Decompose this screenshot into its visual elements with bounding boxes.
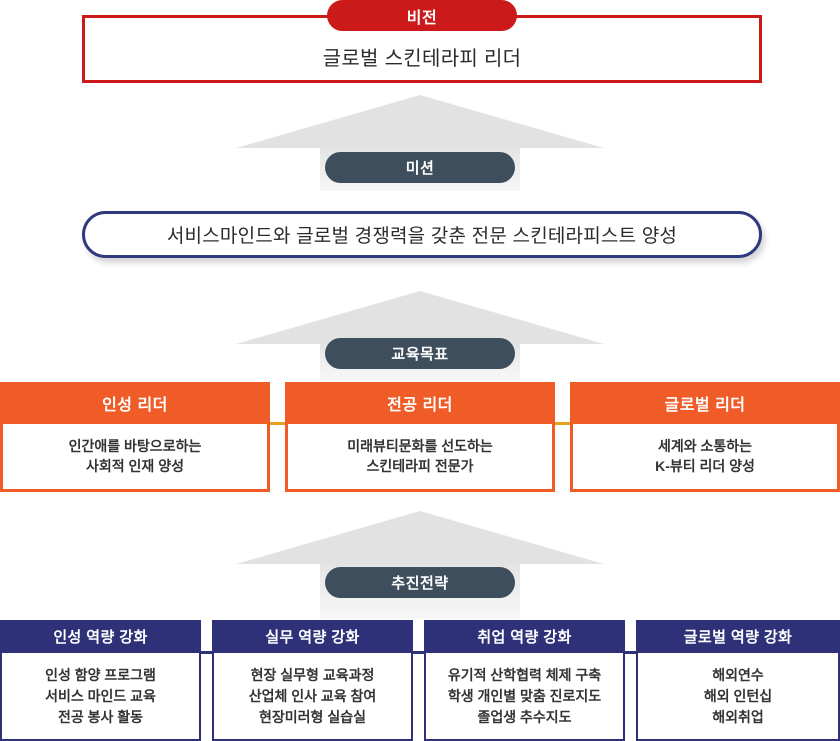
mission-badge: 미션 bbox=[325, 152, 515, 183]
goal-connector-1 bbox=[270, 382, 285, 492]
goal-card-2-line-1: 미래뷰티문화를 선도하는 bbox=[347, 437, 493, 457]
strategy-card-4: 글로벌 역량 강화 해외연수 해외 인턴십 해외취업 bbox=[636, 620, 840, 741]
goal-connector-2 bbox=[555, 382, 570, 492]
strategy-card-1: 인성 역량 강화 인성 함양 프로그램 서비스 마인드 교육 전공 봉사 활동 bbox=[0, 620, 201, 741]
goal-card-1: 인성 리더 인간애를 바탕으로하는 사회적 인재 양성 bbox=[0, 382, 270, 492]
strategy-connector-1 bbox=[201, 620, 212, 741]
strategy-card-2-line-2: 산업체 인사 교육 참여 bbox=[249, 686, 377, 707]
vision-badge: 비전 bbox=[327, 0, 517, 31]
arrow-head bbox=[236, 291, 604, 344]
goal-card-3-line-1: 세계와 소통하는 bbox=[658, 437, 752, 457]
strategy-card-3: 취업 역량 강화 유기적 산학협력 체제 구축 학생 개인별 맞춤 진로지도 졸… bbox=[424, 620, 625, 741]
goal-card-3-line-2: K-뷰티 리더 양성 bbox=[655, 457, 755, 477]
goal-card-1-line-1: 인간애를 바탕으로하는 bbox=[69, 437, 202, 457]
strategy-card-4-line-1: 해외연수 bbox=[712, 665, 764, 686]
strategy-card-2-line-1: 현장 실무형 교육과정 bbox=[251, 665, 375, 686]
strategy-card-1-body: 인성 함양 프로그램 서비스 마인드 교육 전공 봉사 활동 bbox=[0, 653, 201, 741]
strategy-connector-2 bbox=[413, 620, 424, 741]
goal-card-3: 글로벌 리더 세계와 소통하는 K-뷰티 리더 양성 bbox=[570, 382, 840, 492]
goal-card-2: 전공 리더 미래뷰티문화를 선도하는 스킨테라피 전문가 bbox=[285, 382, 555, 492]
strategy-card-4-title: 글로벌 역량 강화 bbox=[636, 620, 840, 653]
goal-card-1-body: 인간애를 바탕으로하는 사회적 인재 양성 bbox=[0, 424, 270, 492]
goal-card-1-title: 인성 리더 bbox=[0, 382, 270, 424]
strategy-card-2-line-3: 현장미러형 실습실 bbox=[259, 707, 366, 728]
mission-statement: 서비스마인드와 글로벌 경쟁력을 갖춘 전문 스킨테라피스트 양성 bbox=[167, 221, 677, 248]
mission-box: 서비스마인드와 글로벌 경쟁력을 갖춘 전문 스킨테라피스트 양성 bbox=[82, 211, 762, 258]
goal-card-2-body: 미래뷰티문화를 선도하는 스킨테라피 전문가 bbox=[285, 424, 555, 492]
strategy-connector-3 bbox=[625, 620, 636, 741]
strategy-card-3-line-3: 졸업생 추수지도 bbox=[477, 707, 571, 728]
vision-statement: 글로벌 스킨테라피 리더 bbox=[323, 28, 522, 71]
goal-card-2-line-2: 스킨테라피 전문가 bbox=[367, 457, 474, 477]
strategy-card-4-line-3: 해외취업 bbox=[712, 707, 764, 728]
strategy-card-2: 실무 역량 강화 현장 실무형 교육과정 산업체 인사 교육 참여 현장미러형 … bbox=[212, 620, 413, 741]
strategy-card-1-line-2: 서비스 마인드 교육 bbox=[45, 686, 156, 707]
strategy-badge: 추진전략 bbox=[325, 567, 515, 598]
strategy-card-1-title: 인성 역량 강화 bbox=[0, 620, 201, 653]
strategy-card-row: 인성 역량 강화 인성 함양 프로그램 서비스 마인드 교육 전공 봉사 활동 … bbox=[0, 620, 840, 741]
strategy-card-3-line-1: 유기적 산학협력 체제 구축 bbox=[448, 665, 601, 686]
strategy-card-3-title: 취업 역량 강화 bbox=[424, 620, 625, 653]
strategy-card-4-line-2: 해외 인턴십 bbox=[704, 686, 772, 707]
strategy-card-3-line-2: 학생 개인별 맞춤 진로지도 bbox=[448, 686, 601, 707]
strategy-card-2-body: 현장 실무형 교육과정 산업체 인사 교육 참여 현장미러형 실습실 bbox=[212, 653, 413, 741]
strategy-card-1-line-3: 전공 봉사 활동 bbox=[58, 707, 143, 728]
arrow-up-to-strategy-icon bbox=[236, 511, 604, 619]
strategy-card-2-title: 실무 역량 강화 bbox=[212, 620, 413, 653]
strategy-card-4-body: 해외연수 해외 인턴십 해외취업 bbox=[636, 653, 840, 741]
goal-card-1-line-2: 사회적 인재 양성 bbox=[86, 457, 184, 477]
goal-badge: 교육목표 bbox=[325, 338, 515, 369]
goal-card-2-title: 전공 리더 bbox=[285, 382, 555, 424]
arrow-head bbox=[236, 511, 604, 564]
vision-mission-diagram: 글로벌 스킨테라피 리더 비전 미션 서비스마인드와 글로벌 경쟁력을 갖춘 전… bbox=[0, 0, 840, 741]
goal-card-3-title: 글로벌 리더 bbox=[570, 382, 840, 424]
goal-card-3-body: 세계와 소통하는 K-뷰티 리더 양성 bbox=[570, 424, 840, 492]
strategy-card-3-body: 유기적 산학협력 체제 구축 학생 개인별 맞춤 진로지도 졸업생 추수지도 bbox=[424, 653, 625, 741]
strategy-card-1-line-1: 인성 함양 프로그램 bbox=[45, 665, 156, 686]
arrow-head bbox=[236, 95, 604, 148]
goal-card-row: 인성 리더 인간애를 바탕으로하는 사회적 인재 양성 전공 리더 미래뷰티문화… bbox=[0, 382, 840, 492]
